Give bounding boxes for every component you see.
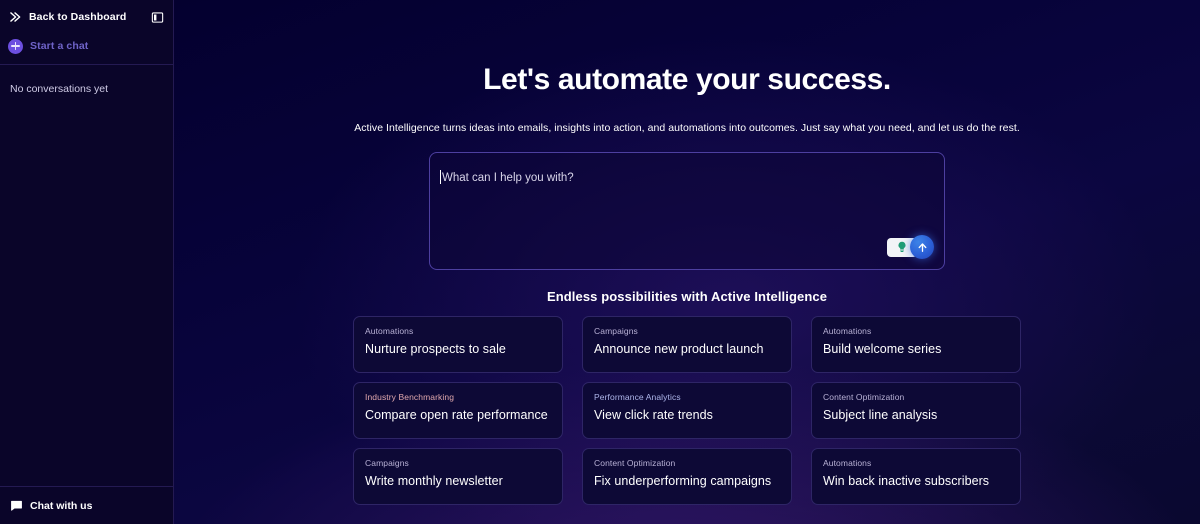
suggestion-card[interactable]: Campaigns Announce new product launch	[582, 316, 792, 373]
chat-input-placeholder: What can I help you with?	[442, 172, 574, 184]
app-root: Back to Dashboard Start a chat No conver…	[0, 0, 1200, 524]
suggestion-category: Automations	[823, 326, 1009, 336]
suggestion-card-grid: Automations Nurture prospects to sale Ca…	[353, 316, 1021, 505]
page-subtitle: Active Intelligence turns ideas into ema…	[354, 122, 1020, 134]
suggestion-title: Write monthly newsletter	[365, 474, 551, 488]
suggestion-category: Content Optimization	[823, 392, 1009, 402]
composer-actions	[887, 235, 934, 259]
send-arrow-icon	[916, 241, 929, 254]
suggestion-card[interactable]: Content Optimization Subject line analys…	[811, 382, 1021, 439]
suggestion-title: Compare open rate performance	[365, 408, 551, 422]
back-to-dashboard-button[interactable]: Back to Dashboard	[8, 10, 144, 24]
suggestion-category: Industry Benchmarking	[365, 392, 551, 402]
start-a-chat-label: Start a chat	[30, 40, 88, 52]
sidebar: Back to Dashboard Start a chat No conver…	[0, 0, 174, 524]
suggestion-category: Automations	[823, 458, 1009, 468]
chat-with-us-label: Chat with us	[30, 500, 92, 512]
suggestion-category: Content Optimization	[594, 458, 780, 468]
plus-circle-icon	[8, 39, 23, 54]
text-caret	[440, 170, 441, 184]
start-a-chat-button[interactable]: Start a chat	[0, 34, 173, 58]
suggestion-title: Nurture prospects to sale	[365, 342, 551, 356]
chevron-double-right-icon	[8, 10, 22, 24]
sidebar-spacer	[0, 95, 173, 486]
page-title: Let's automate your success.	[483, 63, 891, 96]
back-to-dashboard-label: Back to Dashboard	[29, 11, 126, 23]
suggestion-category: Campaigns	[365, 458, 551, 468]
suggestion-card[interactable]: Automations Win back inactive subscriber…	[811, 448, 1021, 505]
suggestion-category: Campaigns	[594, 326, 780, 336]
sidebar-header: Back to Dashboard	[0, 0, 173, 34]
send-button[interactable]	[910, 235, 934, 259]
panel-layout-icon[interactable]	[151, 11, 164, 24]
suggestion-title: Build welcome series	[823, 342, 1009, 356]
suggestion-title: Subject line analysis	[823, 408, 1009, 422]
suggestion-category: Automations	[365, 326, 551, 336]
main-content: Let's automate your success. Active Inte…	[174, 0, 1200, 524]
chat-bubble-icon	[10, 499, 23, 512]
suggestion-card[interactable]: Performance Analytics View click rate tr…	[582, 382, 792, 439]
suggestion-card[interactable]: Campaigns Write monthly newsletter	[353, 448, 563, 505]
suggestions-heading: Endless possibilities with Active Intell…	[547, 289, 827, 304]
suggestion-title: Fix underperforming campaigns	[594, 474, 780, 488]
chat-composer[interactable]: What can I help you with?	[429, 152, 945, 270]
suggestion-card[interactable]: Industry Benchmarking Compare open rate …	[353, 382, 563, 439]
suggestion-card[interactable]: Content Optimization Fix underperforming…	[582, 448, 792, 505]
suggestion-category: Performance Analytics	[594, 392, 780, 402]
suggestion-card[interactable]: Automations Build welcome series	[811, 316, 1021, 373]
conversations-empty-state: No conversations yet	[0, 65, 173, 95]
lightbulb-icon	[896, 241, 908, 253]
suggestion-title: Announce new product launch	[594, 342, 780, 356]
suggestion-card[interactable]: Automations Nurture prospects to sale	[353, 316, 563, 373]
suggestion-title: View click rate trends	[594, 408, 780, 422]
suggestion-title: Win back inactive subscribers	[823, 474, 1009, 488]
chat-with-us-button[interactable]: Chat with us	[0, 486, 173, 524]
